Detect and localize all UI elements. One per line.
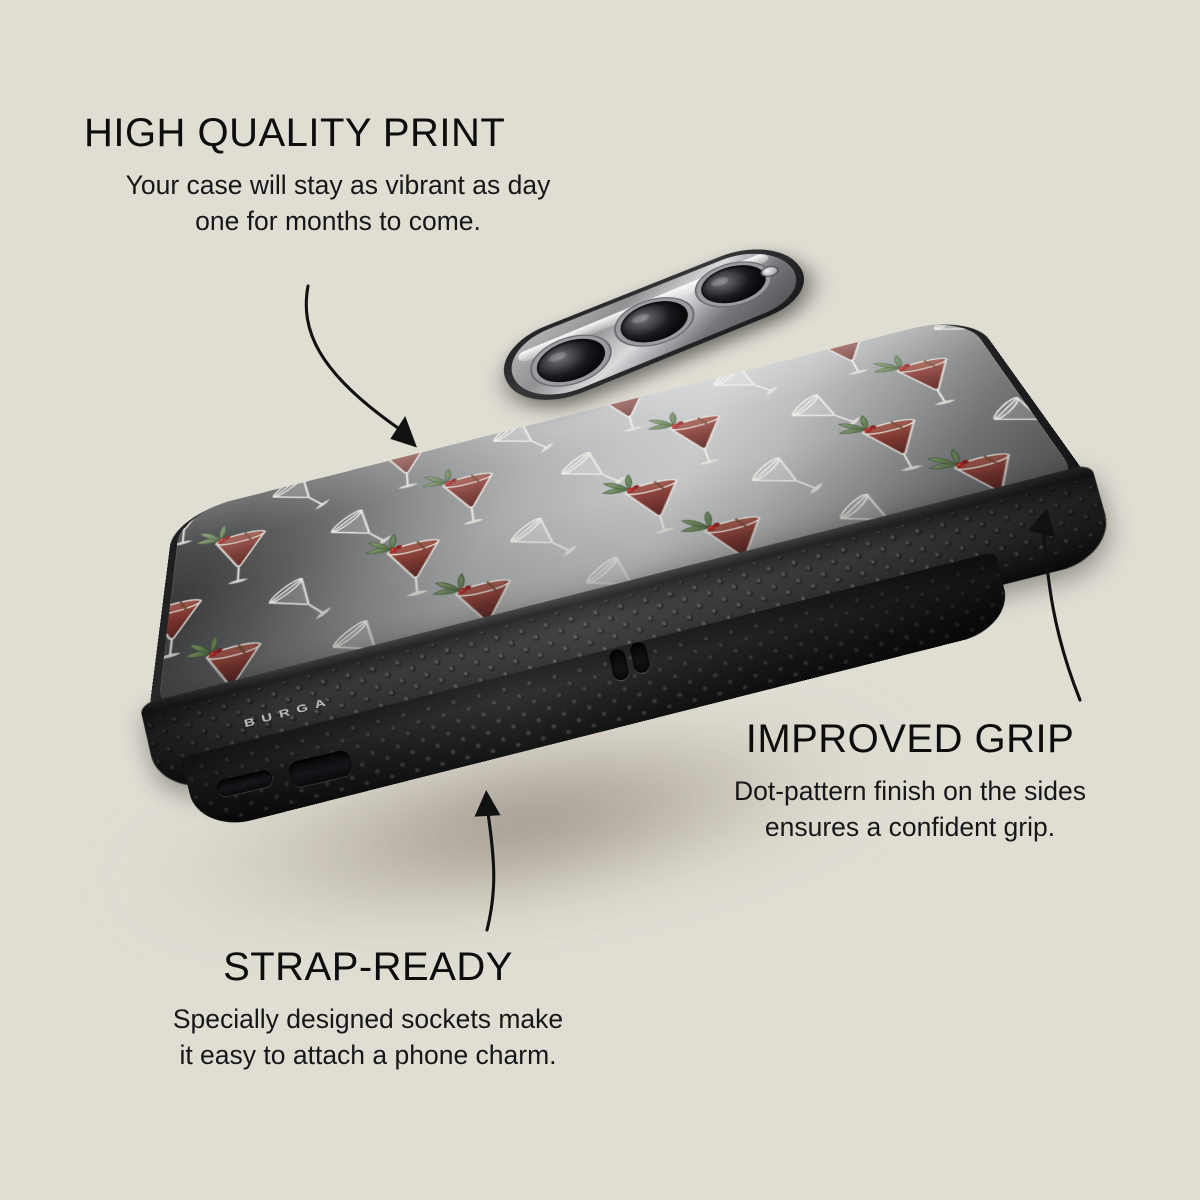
feature-headline: STRAP-READY [108, 946, 628, 988]
feature-headline: IMPROVED GRIP [680, 718, 1140, 760]
feature-body-line-1: Dot-pattern finish on the sides [680, 774, 1140, 810]
feature-body-line-1: Your case will stay as vibrant as day [78, 168, 598, 204]
feature-body-line-2: ensures a confident grip. [680, 810, 1140, 846]
feature-body: Your case will stay as vibrant as day on… [78, 168, 598, 239]
feature-body-line-2: one for months to come. [78, 204, 598, 240]
product-feature-infographic: BURGA HIGH QUALITY PRINT Your case will … [0, 0, 1200, 1200]
feature-strap-ready: STRAP-READY Specially designed sockets m… [108, 946, 628, 1073]
feature-headline: HIGH QUALITY PRINT [84, 112, 598, 154]
feature-body: Dot-pattern finish on the sides ensures … [680, 774, 1140, 845]
feature-improved-grip: IMPROVED GRIP Dot-pattern finish on the … [680, 718, 1140, 845]
feature-body: Specially designed sockets make it easy … [108, 1002, 628, 1073]
feature-body-line-1: Specially designed sockets make [108, 1002, 628, 1038]
feature-body-line-2: it easy to attach a phone charm. [108, 1038, 628, 1074]
feature-high-quality-print: HIGH QUALITY PRINT Your case will stay a… [84, 112, 598, 239]
